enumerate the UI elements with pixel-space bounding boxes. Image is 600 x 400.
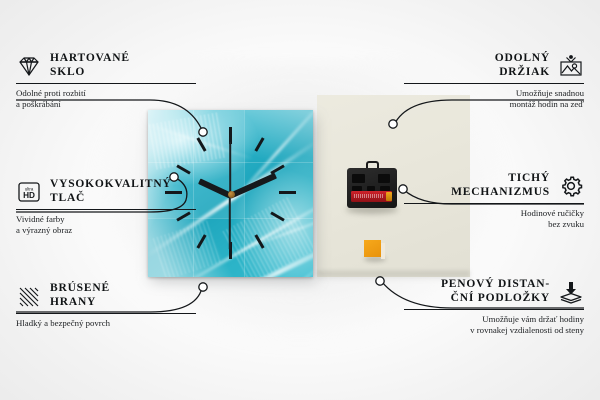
feature-title-line: HARTOVANÉ — [50, 52, 130, 66]
feature-description: Umožňuje snadnoumontáž hodin na zeď — [404, 88, 584, 110]
clock-hand-second — [229, 194, 231, 250]
feature-header: ultra HD VYSOKOKVALITNÝ TLAČ — [16, 178, 196, 205]
feature-header: BRÚSENÉ HRANY — [16, 282, 196, 309]
feature-divider — [404, 203, 584, 204]
battery-positive-cap — [386, 192, 392, 201]
infographic-canvas: HARTOVANÉ SKLO Odolné proti rozbitía poš… — [0, 0, 600, 400]
feature-title-line: ODOLNÝ — [495, 52, 550, 66]
feature-description: Hodinové ručičkybez zvuku — [404, 208, 584, 230]
feature-header: PENOVÝ DISTAN- ČNÍ PODLOŽKY — [404, 278, 584, 305]
mechanism-slot — [378, 174, 390, 183]
feature-title-line: PENOVÝ DISTAN- — [441, 278, 550, 292]
foam-spacer-icon — [558, 280, 584, 304]
feature-ground-edges: BRÚSENÉ HRANY Hladký a bezpečný povrch — [16, 282, 196, 329]
clock-center-cap — [228, 191, 235, 198]
feature-title-line: ČNÍ PODLOŽKY — [441, 292, 550, 306]
feature-title-line: MECHANIZMUS — [451, 186, 550, 200]
feature-durable-hanger: ODOLNÝ DRŽIAK Umožňuje snadnoumontáž hod… — [404, 52, 584, 110]
feature-title: PENOVÝ DISTAN- ČNÍ PODLOŽKY — [441, 278, 550, 305]
feature-silent-mechanism: TICHÝ MECHANIZMUS Hodinové ručičkybez zv… — [404, 172, 584, 230]
feature-title-line: HRANY — [50, 296, 110, 310]
feature-title-line: SKLO — [50, 66, 130, 80]
feature-divider — [404, 83, 584, 84]
battery-label — [354, 194, 384, 198]
feature-title-line: BRÚSENÉ — [50, 282, 110, 296]
feature-header: ODOLNÝ DRŽIAK — [404, 52, 584, 79]
feature-foam-spacers: PENOVÝ DISTAN- ČNÍ PODLOŽKY Umožňuje vám… — [404, 278, 584, 336]
feature-divider — [16, 313, 196, 314]
wall-hanger-icon — [558, 54, 584, 78]
ground-edges-icon — [16, 284, 42, 308]
feature-header: TICHÝ MECHANIZMUS — [404, 172, 584, 199]
feature-title: TICHÝ MECHANIZMUS — [451, 172, 550, 199]
diamond-icon — [16, 54, 42, 78]
feature-title: BRÚSENÉ HRANY — [50, 282, 110, 309]
ultra-hd-icon: ultra HD — [16, 180, 42, 204]
clock-marker — [279, 191, 296, 194]
feature-description: Odolné proti rozbitía poškrábání — [16, 88, 196, 110]
feature-title: ODOLNÝ DRŽIAK — [495, 52, 550, 79]
glass-grid-line — [244, 110, 245, 277]
feature-title-line: TICHÝ — [451, 172, 550, 186]
feature-title-line: VYSOKOKVALITNÝ — [50, 178, 172, 192]
feature-divider — [404, 309, 584, 310]
feature-title: HARTOVANÉ SKLO — [50, 52, 130, 79]
feature-description: Vividné farbya výrazný obraz — [16, 214, 196, 236]
svg-text:HD: HD — [23, 191, 35, 200]
clock-hand-second-tail — [229, 142, 231, 194]
foam-pad-side — [381, 243, 385, 259]
foam-pad — [364, 240, 381, 257]
feature-title-line: TLAČ — [50, 192, 172, 206]
feature-divider — [16, 209, 196, 210]
feature-description: Hladký a bezpečný povrch — [16, 318, 196, 329]
mechanism-slot — [352, 174, 365, 183]
feature-header: HARTOVANÉ SKLO — [16, 52, 196, 79]
gear-icon — [558, 174, 584, 198]
feature-title: VYSOKOKVALITNÝ TLAČ — [50, 178, 172, 205]
feature-tempered-glass: HARTOVANÉ SKLO Odolné proti rozbitía poš… — [16, 52, 196, 110]
feature-high-quality-print: ultra HD VYSOKOKVALITNÝ TLAČ Vividné far… — [16, 178, 196, 236]
feature-title-line: DRŽIAK — [495, 66, 550, 80]
feature-divider — [16, 83, 196, 84]
clock-mechanism — [347, 168, 397, 208]
feature-description: Umožňuje vám držať hodinyv rovnakej vzdi… — [404, 314, 584, 336]
